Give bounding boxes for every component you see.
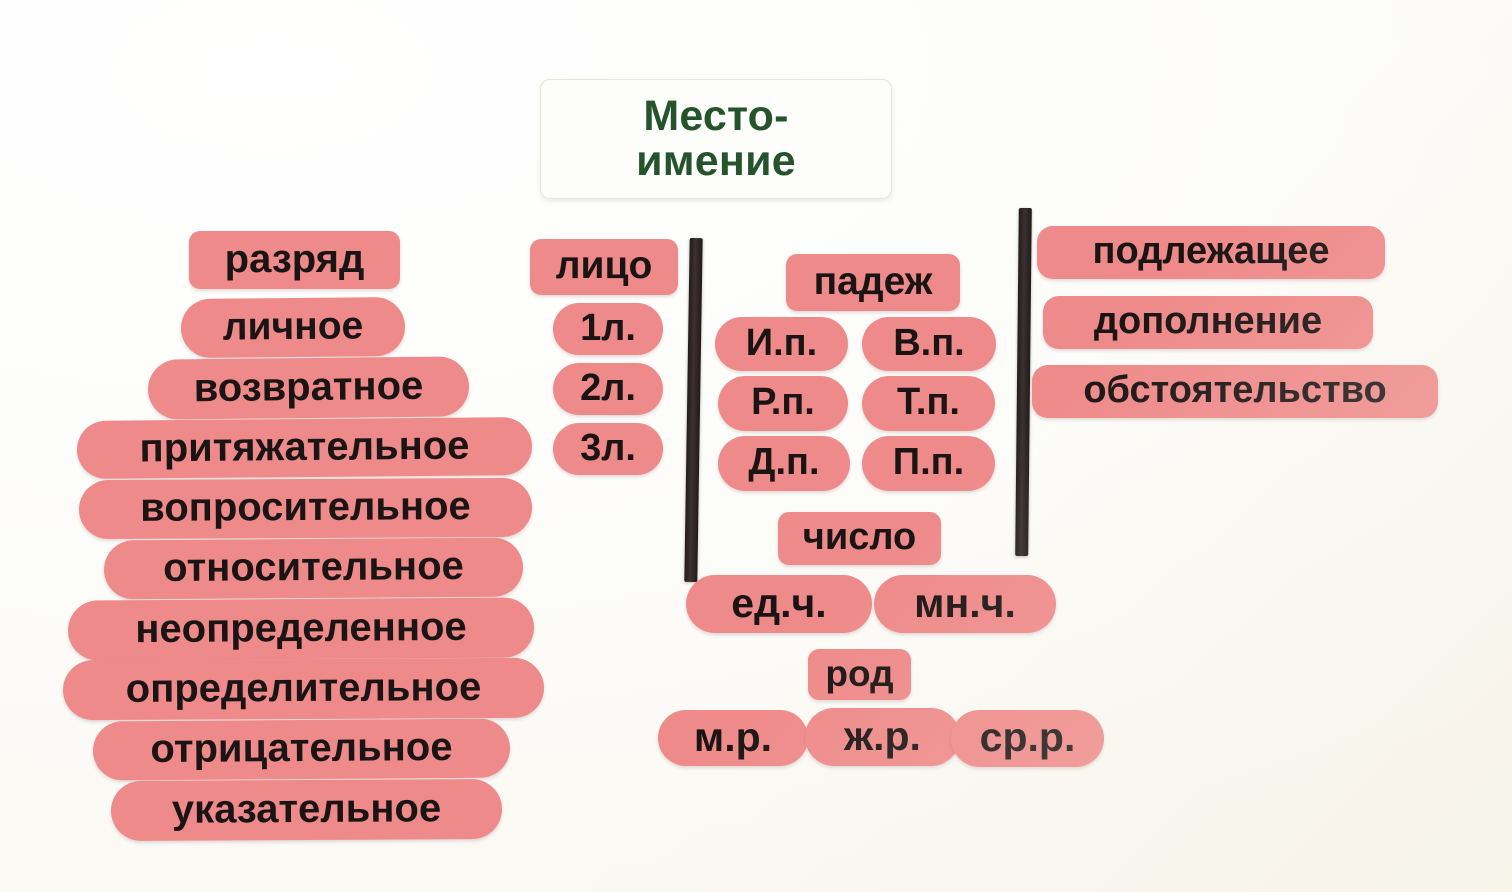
card-razryad-item-6[interactable]: неопределенное (68, 597, 534, 660)
card-litso-item-2[interactable]: 2л. (553, 363, 663, 415)
card-padezh-item-pp[interactable]: П.п. (862, 436, 995, 491)
card-padezh-item-tp[interactable]: Т.п. (862, 376, 995, 431)
card-role-adverbial[interactable]: обстоятельство (1032, 365, 1438, 418)
card-chislo-item-1[interactable]: ед.ч. (686, 575, 872, 633)
card-padezh-item-vp[interactable]: В.п. (862, 317, 996, 371)
card-chislo-heading[interactable]: число (778, 512, 941, 565)
card-razryad-item-9[interactable]: указательное (111, 779, 502, 841)
card-litso-heading[interactable]: лицо (530, 239, 678, 295)
card-rod-item-1[interactable]: м.р. (658, 710, 808, 766)
card-chislo-item-2[interactable]: мн.ч. (874, 575, 1056, 633)
card-padezh-item-rp[interactable]: Р.п. (718, 376, 848, 431)
card-litso-item-3[interactable]: 3л. (553, 423, 663, 475)
card-rod-item-3[interactable]: ср.р. (951, 710, 1104, 767)
card-rod-item-2[interactable]: ж.р. (805, 708, 960, 766)
page-title: Место- имение (636, 94, 796, 183)
poster-board: Место- имение разряд личное возвратное п… (0, 0, 1512, 892)
card-razryad-item-5[interactable]: относительное (104, 538, 523, 600)
card-razryad-item-2[interactable]: возвратное (148, 356, 470, 419)
card-razryad-heading[interactable]: разряд (189, 231, 400, 289)
card-padezh-item-ip[interactable]: И.п. (715, 317, 848, 371)
divider-bar-left (684, 238, 702, 582)
card-razryad-item-4[interactable]: вопросительное (79, 478, 532, 539)
card-padezh-heading[interactable]: падеж (786, 254, 960, 311)
divider-bar-right (1015, 208, 1032, 556)
card-rod-heading[interactable]: род (808, 649, 911, 700)
card-razryad-item-1[interactable]: личное (181, 297, 406, 358)
card-razryad-item-3[interactable]: притяжательное (77, 417, 532, 479)
card-razryad-item-7[interactable]: определительное (63, 658, 544, 721)
card-role-object[interactable]: дополнение (1043, 296, 1373, 349)
card-litso-item-1[interactable]: 1л. (553, 303, 663, 355)
card-padezh-item-dp[interactable]: Д.п. (718, 436, 850, 491)
card-role-subject[interactable]: подлежащее (1037, 226, 1385, 279)
title-card: Место- имение (540, 79, 892, 199)
card-razryad-item-8[interactable]: отрицательное (93, 719, 510, 781)
